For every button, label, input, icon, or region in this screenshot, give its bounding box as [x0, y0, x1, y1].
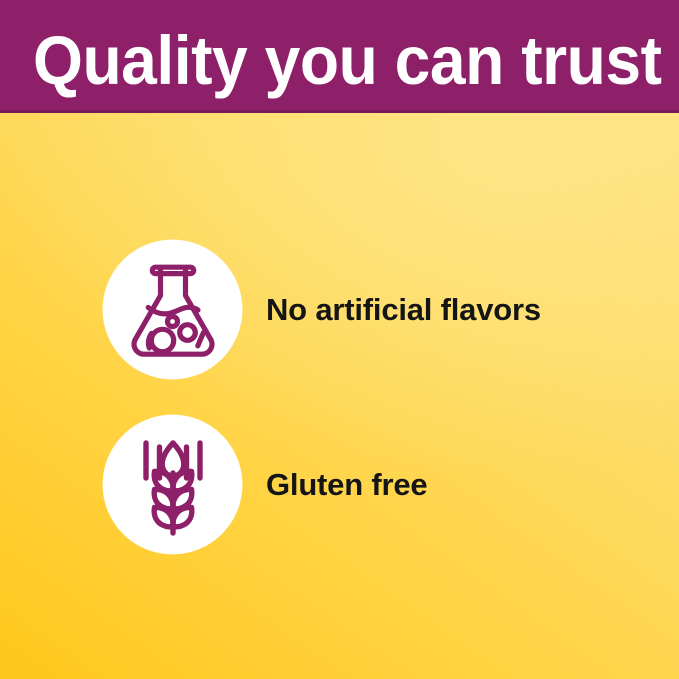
- icon-badge: [103, 415, 242, 554]
- feature-row: No artificial flavors: [103, 240, 541, 379]
- background-gradient: [0, 113, 679, 679]
- page-title: Quality you can trust: [33, 24, 661, 98]
- header-band: Quality you can trust: [0, 0, 679, 113]
- wheat-icon: [129, 433, 217, 537]
- feature-label: Gluten free: [266, 467, 427, 503]
- header-band-bottom-edge: [0, 110, 679, 113]
- quality-you-can-trust-panel: Quality you can trust: [0, 0, 679, 679]
- feature-label: No artificial flavors: [266, 292, 541, 328]
- icon-badge: [103, 240, 242, 379]
- flask-icon: [127, 260, 219, 360]
- feature-row: Gluten free: [103, 415, 427, 554]
